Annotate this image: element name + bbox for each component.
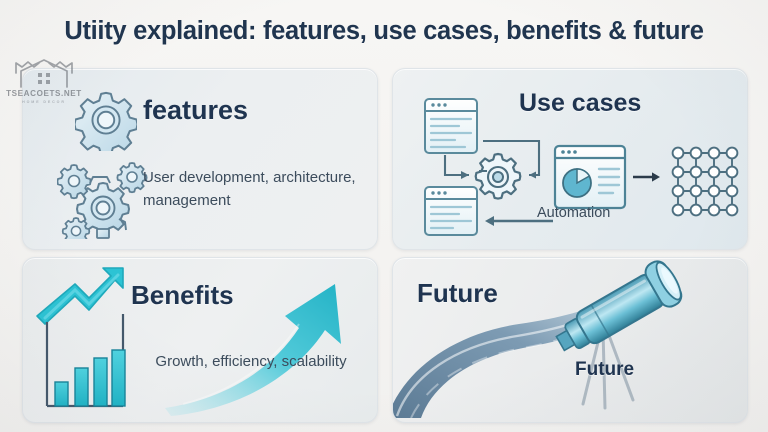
page-title: Utiity explained: features, use cases, b… [64,17,703,46]
browser-window-icon [425,99,477,153]
browser-window-icon [425,187,477,235]
infographic-canvas: Utiity explained: features, use cases, b… [0,0,768,432]
features-heading: features [143,95,248,126]
card-future[interactable]: Future Future [392,257,748,423]
card-features[interactable]: features User development, architecture,… [22,68,378,250]
gear-icon [476,154,521,199]
growth-arrow-icon [37,268,123,324]
dashboard-pie-icon [555,146,625,208]
features-body-text: User development, architecture, manageme… [143,166,373,213]
gear-icon [75,89,137,151]
future-heading: Future [417,278,498,309]
title-bar: Utiity explained: features, use cases, b… [0,0,768,62]
benefits-body-text: Growth, efficiency, scalability [151,350,351,373]
node-grid-icon [673,148,738,216]
arrow-right-icon [633,172,660,181]
usecases-heading: Use cases [519,89,641,118]
gear-cluster-icon [57,157,149,239]
bar-chart-icon [55,350,125,406]
card-usecases[interactable]: Use cases Automation [392,68,748,250]
future-label: Future [575,359,634,381]
automation-label: Automation [537,202,610,224]
telescope-icon [548,258,686,364]
card-benefits[interactable]: Benefits Growth, efficiency, scalability [22,257,378,423]
benefits-heading: Benefits [131,280,234,311]
